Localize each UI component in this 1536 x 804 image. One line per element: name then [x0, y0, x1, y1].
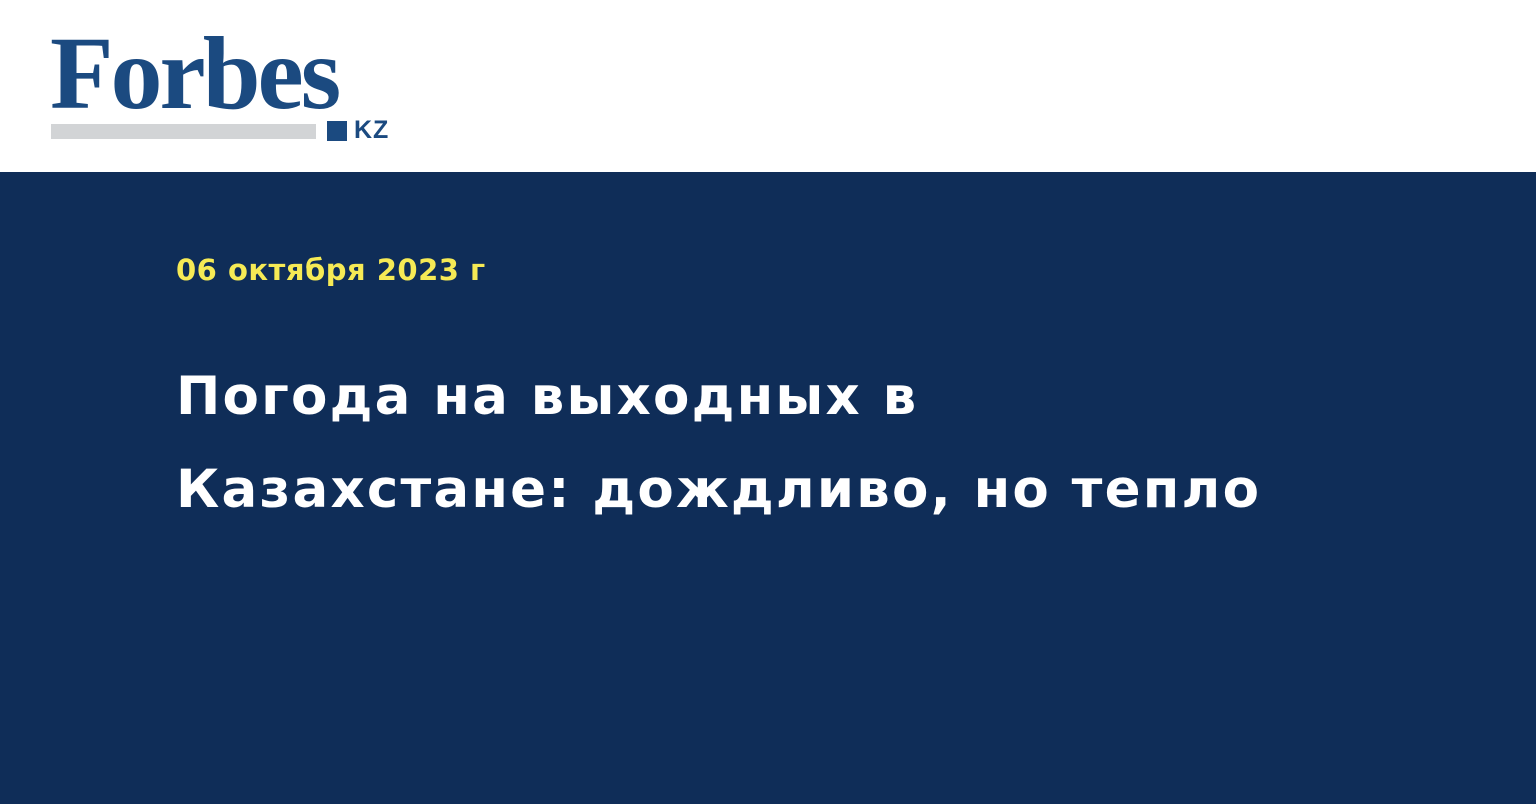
logo-underline-rule	[51, 124, 316, 139]
article-hero: 06 октября 2023 г Погода на выходных в К…	[0, 172, 1536, 804]
article-headline-line-1: Погода на выходных в	[176, 366, 918, 427]
article-publish-date: 06 октября 2023 г	[176, 253, 1466, 287]
logo-locale-badge: KZ	[327, 118, 389, 143]
logo-locale-label: KZ	[354, 118, 389, 143]
article-hero-content: 06 октября 2023 г Погода на выходных в К…	[176, 253, 1466, 536]
site-masthead: Forbes KZ	[0, 0, 1536, 172]
article-cover-page: Forbes KZ 06 октября 2023 г Погода на вы…	[0, 0, 1536, 804]
article-headline-line-2: Казахстане: дождливо, но тепло	[176, 459, 1261, 520]
article-headline: Погода на выходных в Казахстане: дождлив…	[176, 350, 1356, 536]
forbes-kz-logo[interactable]: Forbes KZ	[50, 22, 410, 142]
logo-wordmark: Forbes	[50, 22, 338, 126]
square-bullet-icon	[327, 121, 347, 141]
